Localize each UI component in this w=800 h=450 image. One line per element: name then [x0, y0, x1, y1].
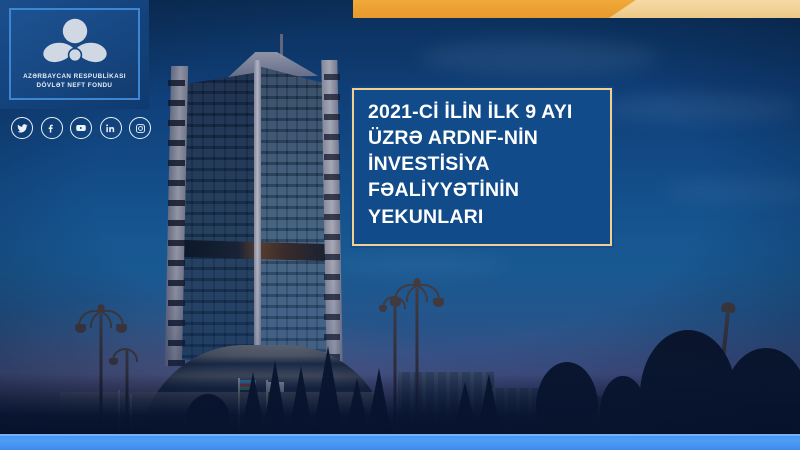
bottom-accent-bar-highlight	[0, 434, 800, 436]
headline-line: 2021-Cİ İLİN İLK 9 AYI	[368, 99, 600, 125]
headline-text: 2021-Cİ İLİN İLK 9 AYI ÜZRƏ ARDNF-NİN İN…	[368, 99, 600, 230]
sofaz-logo-inner-frame: AZƏRBAYCAN RESPUBLİKASI DÖVLƏT NEFT FOND…	[9, 8, 140, 100]
tower-ribs-right	[324, 60, 340, 366]
headline-panel: 2021-Cİ İLİN İLK 9 AYI ÜZRƏ ARDNF-NİN İN…	[352, 88, 612, 246]
cloud	[420, 40, 660, 74]
instagram-icon[interactable]	[129, 117, 151, 139]
tower-windows-left	[182, 72, 260, 368]
sofaz-tower	[168, 46, 340, 376]
sofaz-name-line-2: DÖVLƏT NEFT FONDU	[17, 81, 132, 90]
social-links	[11, 117, 151, 139]
twitter-icon[interactable]	[11, 117, 33, 139]
top-accent-bar-orange	[353, 0, 653, 18]
cloud	[600, 95, 800, 121]
tower-windows-right	[258, 66, 330, 366]
headline-line: ÜZRƏ ARDNF-NİN	[368, 125, 600, 151]
tower-corner-edge	[254, 60, 261, 372]
sofaz-logo-box[interactable]: AZƏRBAYCAN RESPUBLİKASI DÖVLƏT NEFT FOND…	[0, 0, 149, 109]
headline-line: FƏALİYYƏTİNİN	[368, 177, 600, 203]
banner-stage: AZƏRBAYCAN RESPUBLİKASI DÖVLƏT NEFT FOND…	[0, 0, 800, 450]
tower-ribs-left	[168, 66, 185, 366]
linkedin-icon[interactable]	[100, 117, 122, 139]
sofaz-logo-text: AZƏRBAYCAN RESPUBLİKASI DÖVLƏT NEFT FOND…	[17, 72, 132, 91]
top-accent-bar	[353, 0, 800, 18]
facebook-icon[interactable]	[41, 117, 63, 139]
headline-line: YEKUNLARI	[368, 204, 600, 230]
youtube-icon[interactable]	[70, 117, 92, 139]
foreground-shadow	[0, 374, 800, 434]
bottom-accent-bar	[0, 434, 800, 450]
headline-line: İNVESTİSİYA	[368, 151, 600, 177]
top-accent-bar-gold	[609, 0, 800, 18]
sofaz-name-line-1: AZƏRBAYCAN RESPUBLİKASI	[17, 72, 132, 81]
sofaz-emblem-icon	[37, 18, 113, 73]
